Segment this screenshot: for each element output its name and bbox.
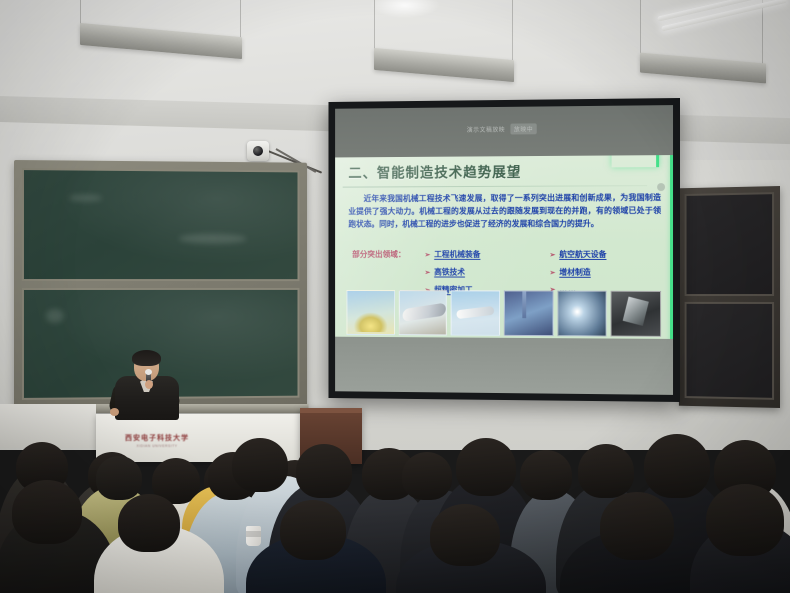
presenter-right-hand xyxy=(145,380,153,389)
audience-head xyxy=(12,480,82,544)
dark-board-panel-top xyxy=(685,192,774,296)
dark-board-panel-bottom xyxy=(685,302,774,400)
camera-lens-icon xyxy=(253,146,263,156)
field-item-label: 工程机械装备 xyxy=(434,249,480,260)
field-item-label: 增材制造 xyxy=(559,267,590,278)
audience-head xyxy=(578,444,634,498)
bullet-marker-icon: ➢ xyxy=(425,269,431,277)
projection-screen: 演示文稿放映 放映中 二、智能制造技术趋势展望 近年来我国机械工程技术飞速发展，… xyxy=(328,98,680,402)
audience-head xyxy=(402,452,452,500)
field-list-label: 部分突出领域： xyxy=(352,249,405,260)
field-item-label: 高铁技术 xyxy=(434,267,465,278)
slide-content: 二、智能制造技术趋势展望 近年来我国机械工程技术飞速发展，取得了一系列突出进展和… xyxy=(335,155,673,353)
audience-head xyxy=(644,434,710,498)
audience-head xyxy=(600,492,674,560)
high-speed-train-thumb xyxy=(399,290,448,335)
precision-machining-thumb xyxy=(504,290,553,336)
list-item: ➢ 工程机械装备 xyxy=(425,249,481,260)
projector-toolbar-text: 演示文稿放映 xyxy=(467,125,505,134)
audience xyxy=(0,430,790,593)
slide-corner-dot xyxy=(657,183,665,191)
chalkboard-panel-top xyxy=(22,168,299,281)
lecture-hall-scene: 演示文稿放映 放映中 二、智能制造技术趋势展望 近年来我国机械工程技术飞速发展，… xyxy=(0,0,790,593)
audience-head xyxy=(280,500,346,560)
bullet-marker-icon: ➢ xyxy=(550,269,556,277)
audience-head xyxy=(296,444,352,498)
presenter-hair xyxy=(132,350,161,366)
slide-thumbnail-strip xyxy=(346,290,661,337)
slide-paragraph: 近年来我国机械工程技术飞速发展，取得了一系列突出进展和创新成果，为我国制造业提供… xyxy=(348,191,661,231)
field-item-label: 航空航天设备 xyxy=(559,249,606,260)
list-item: ➢ 航空航天设备 xyxy=(550,249,607,260)
audience-head xyxy=(430,504,500,566)
bullet-marker-icon: ➢ xyxy=(550,251,556,259)
projector-bottom-band xyxy=(335,337,673,395)
paper-cup xyxy=(246,526,261,546)
projector-top-band: 演示文稿放映 放映中 xyxy=(335,105,673,157)
audience-head xyxy=(96,456,142,500)
list-item: ➢ 高铁技术 xyxy=(425,267,481,278)
presenter-left-hand xyxy=(110,408,119,416)
audience-head xyxy=(520,450,572,500)
audience-head xyxy=(706,484,784,556)
audience-head xyxy=(456,438,516,496)
presenter xyxy=(110,352,184,418)
dark-chalkboard xyxy=(679,186,780,408)
projector-status-pill: 放映中 xyxy=(510,123,537,134)
slide-title-rule xyxy=(343,185,647,187)
projector-toolbar: 演示文稿放映 放映中 xyxy=(467,123,537,134)
aircraft-thumb xyxy=(451,290,500,336)
slide-edge-accent xyxy=(670,155,673,353)
slide-title: 二、智能制造技术趋势展望 xyxy=(348,162,521,183)
bullet-marker-icon: ➢ xyxy=(425,251,431,259)
grinding-sparks-thumb xyxy=(557,291,607,337)
list-item: ➢ 增材制造 xyxy=(550,267,607,278)
audience-head xyxy=(118,494,180,552)
audience-head xyxy=(232,438,288,492)
machine-tool-thumb xyxy=(611,291,661,337)
slide-corner-accent xyxy=(612,155,660,167)
welding-sparks-thumb xyxy=(346,290,394,335)
